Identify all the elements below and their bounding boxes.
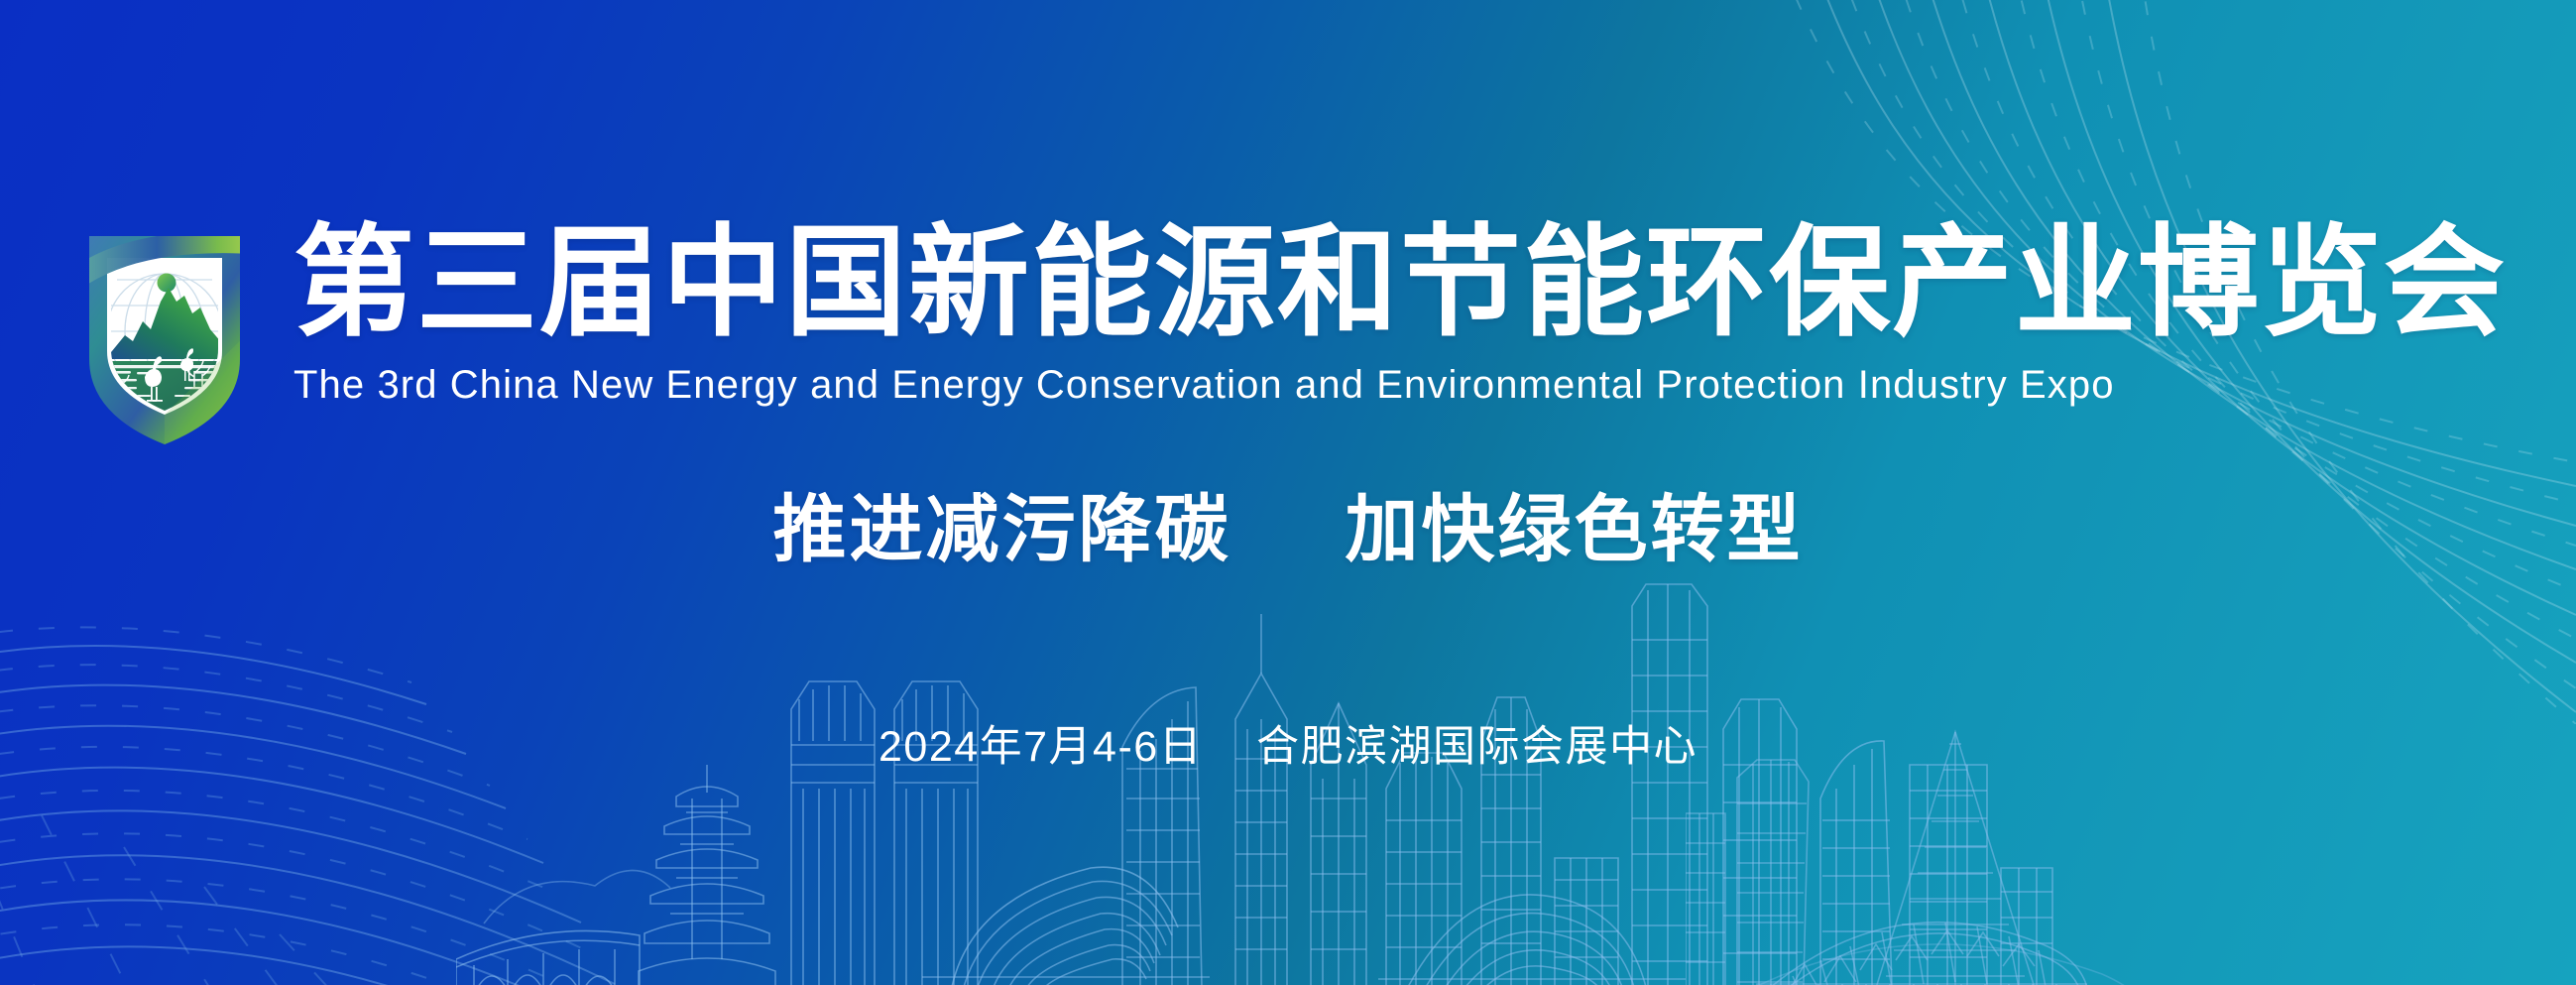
page-subtitle: The 3rd China New Energy and Energy Cons… xyxy=(293,365,2515,405)
event-date-venue: 2024年7月4-6日 合肥滨湖国际会展中心 xyxy=(0,712,2576,774)
page-title: 第三届中国新能源和节能环保产业博览会 xyxy=(293,222,2515,343)
expo-banner: 第三届中国新能源和节能环保产业博览会 The 3rd China New Ene… xyxy=(0,0,2576,985)
expo-logo xyxy=(77,210,252,448)
title-block: 第三届中国新能源和节能环保产业博览会 The 3rd China New Ene… xyxy=(293,222,2515,405)
slogan-text: 推进减污降碳 加快绿色转型 xyxy=(0,470,2576,576)
